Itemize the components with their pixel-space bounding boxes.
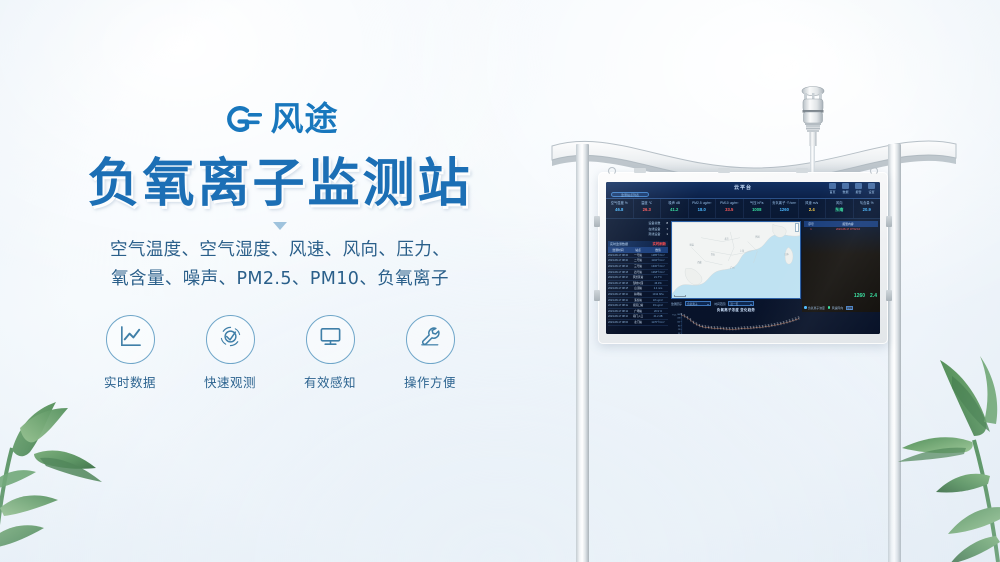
station-list-pill[interactable]: 监测站点列表 xyxy=(611,192,649,197)
table-cell: 2023-08-17 08:16 xyxy=(608,281,628,286)
table-cell: 1012 hPa xyxy=(648,292,668,297)
table-cell: 2023-08-17 08:15 xyxy=(608,286,628,291)
bezel-tab xyxy=(796,168,808,173)
table-cell: 2023-08-17 08:17 xyxy=(608,275,628,280)
table-cell: 2023-08-17 08:09 xyxy=(608,320,628,325)
dashboard-header: 云平台 监测站点列表 首页 数据 报警 设置 xyxy=(606,182,880,199)
range-label: 时间范围 xyxy=(714,302,725,306)
feature-label: 有效感知 xyxy=(294,372,366,391)
bezel-tab xyxy=(718,168,730,173)
table-cell: 2023-08-17 08:19 xyxy=(608,264,628,269)
feature-icon-circle xyxy=(406,315,455,364)
feature-item-effective-sensing[interactable]: 有效感知 xyxy=(294,315,366,391)
table-cell: 20.9 % xyxy=(648,309,668,314)
table-caption-badge: 实时刷新 xyxy=(652,241,666,246)
metric-card: PM10 ug/m³33.5 xyxy=(716,199,744,218)
dashboard-header-icons: 首页 数据 报警 设置 xyxy=(828,183,876,194)
metric-value: 20.9 xyxy=(854,206,881,214)
metric-value: 2.4 xyxy=(799,206,826,214)
alert-row[interactable]: 1 2023-08-17 07:52:10 xyxy=(804,227,878,233)
table-caption-label: 实时监测数据 xyxy=(610,242,628,246)
metric-value: 东南 xyxy=(826,206,853,214)
dashboard-body: 设备总数 8 在线设备 7 离线设备 1 xyxy=(606,219,880,312)
station-list-pill-label: 监测站点列表 xyxy=(612,193,648,198)
table-cell: 三号站 xyxy=(628,264,648,269)
range-select[interactable]: 近一天 xyxy=(728,301,754,306)
svg-text:1333: 1333 xyxy=(677,318,680,320)
feature-icon-circle xyxy=(306,315,355,364)
feature-label: 快速观测 xyxy=(194,372,266,391)
brand-name: 风途 xyxy=(271,99,339,139)
map-landmass: 北京西安 上海广州 新疆西藏 韩国日本 xyxy=(672,222,800,298)
wrench-icon xyxy=(418,324,443,354)
mount-lug-left-bottom xyxy=(594,290,600,301)
mount-lug-right-bottom xyxy=(886,290,892,301)
highlight-value: 1260 xyxy=(854,293,865,299)
feature-icon-circle xyxy=(106,315,155,364)
subtitle-line-2: 氧含量、噪声、PM2.5、PM10、负氧离子 xyxy=(0,265,560,293)
metric-value: 1260 xyxy=(771,206,798,214)
feature-item-easy-operation[interactable]: 操作方便 xyxy=(394,315,466,391)
table-cell: 四号站 xyxy=(628,270,648,275)
svg-text:533: 533 xyxy=(678,329,681,331)
table-cell: 1330个/cm³ xyxy=(648,264,668,269)
radar-dish-icon xyxy=(218,324,243,354)
table-cell: 21.7℃ xyxy=(648,275,668,280)
feature-icon-circle xyxy=(206,315,255,364)
table-cell: 2023-08-17 08:12 xyxy=(608,303,628,308)
table-cell: 溪谷站 xyxy=(628,298,648,303)
table-cell: 18 ug/m³ xyxy=(648,298,668,303)
metric-card: 空气湿度 %46.8 xyxy=(606,199,634,218)
station-post-right xyxy=(888,144,901,562)
gear-icon[interactable]: 设置 xyxy=(867,183,876,194)
metric-value: 46.8 xyxy=(606,206,633,214)
map-toolbar: 监测因子 负氧离子 时间范围 近一天 xyxy=(671,301,801,306)
monitoring-station: 云平台 监测站点列表 首页 数据 报警 设置 空气湿度 %46.8温度 ℃26.… xyxy=(540,110,980,520)
export-button[interactable]: 导出 xyxy=(846,306,853,311)
svg-text:267: 267 xyxy=(678,333,681,334)
svg-text:1067: 1067 xyxy=(677,321,680,323)
table-cell: 广场站 xyxy=(628,309,648,314)
table-cell: 2.4 m/s xyxy=(648,286,668,291)
table-cell: 2023-08-17 08:20 xyxy=(608,258,628,263)
feature-list: 实时数据 快速观测 xyxy=(0,315,560,391)
table-cell: 46.3% xyxy=(648,281,668,286)
table-cell: 山顶站 xyxy=(628,286,648,291)
alert-index: 1 xyxy=(804,227,818,233)
table-cell: 2023-08-17 08:11 xyxy=(608,309,628,314)
stat-label: 离线设备 xyxy=(648,232,660,238)
highlight-value: 2.4 xyxy=(870,293,877,299)
map-scale-bar xyxy=(674,295,686,297)
filter-label: 监测因子 xyxy=(671,302,682,306)
table-cell: 2023-08-17 08:10 xyxy=(608,314,628,319)
wind-g-logo-icon xyxy=(222,99,262,139)
stat-value: 1 xyxy=(666,232,668,238)
table-cell: 2023-08-17 08:21 xyxy=(608,253,628,258)
svg-text:1600: 1600 xyxy=(677,314,680,316)
trend-chart: 负氧离子浓度 变化趋势 0267533800106713331600个/cm³0… xyxy=(671,307,801,334)
metric-card: PM2.5 ug/m³18.0 xyxy=(689,199,717,218)
poster-stage: 风途 负氧离子监测站 空气温度、空气湿度、风速、风向、压力、 氧含量、噪声、PM… xyxy=(0,0,1000,562)
metric-card: 风速 m/s2.4 xyxy=(799,199,827,218)
ultrasonic-weather-sensor-icon xyxy=(795,84,831,148)
page-title: 负氧离子监测站 xyxy=(0,156,560,212)
metric-strip: 空气湿度 %46.8温度 ℃26.3噪声 dB41.2PM2.5 ug/m³18… xyxy=(606,199,880,219)
chart-legend: 负氧离子浓度 风速风向 导出 xyxy=(804,306,878,311)
table-cell: 一号站 xyxy=(628,253,648,258)
factor-select[interactable]: 负氧离子 xyxy=(685,301,711,306)
china-map[interactable]: 北京西安 上海广州 新疆西藏 韩国日本 xyxy=(671,221,801,299)
table-cell: 33 ug/m³ xyxy=(648,303,668,308)
hanger-ring-left xyxy=(608,167,616,175)
table-cell: 1285个/cm³ xyxy=(648,253,668,258)
dashboard: 云平台 监测站点列表 首页 数据 报警 设置 空气湿度 %46.8温度 ℃26.… xyxy=(606,182,880,334)
mount-lug-left-top xyxy=(594,216,600,227)
metric-value: 26.3 xyxy=(634,206,661,214)
metric-card: 氧含量 %20.9 xyxy=(854,199,881,218)
legend-item: 负氧离子浓度 xyxy=(804,306,825,310)
home-icon[interactable]: 首页 xyxy=(828,183,837,194)
monitor-icon xyxy=(318,324,343,354)
feature-item-fast-observation[interactable]: 快速观测 xyxy=(194,315,266,391)
display-cabinet: 云平台 监测站点列表 首页 数据 报警 设置 空气湿度 %46.8温度 ℃26.… xyxy=(598,172,888,344)
stat-row: 离线设备 1 xyxy=(608,232,668,238)
table-cell: 二号站 xyxy=(628,258,648,263)
table-cell: 1268个/cm³ xyxy=(648,270,668,275)
metric-card: 温度 ℃26.3 xyxy=(634,199,662,218)
title-divider-arrow xyxy=(273,222,287,230)
table-cell: 1176个/cm³ xyxy=(648,320,668,325)
line-chart-icon xyxy=(118,324,143,354)
table-row[interactable]: 2023-08-17 08:09北门站1176个/cm³ xyxy=(608,320,668,326)
table-cell: 索道口站 xyxy=(628,303,648,308)
feature-label: 实时数据 xyxy=(94,372,166,391)
alert-content: 2023-08-17 07:52:10 xyxy=(818,227,878,233)
metric-card: 风向东南 xyxy=(826,199,854,218)
subtitle-line-1: 空气温度、空气湿度、风速、风向、压力、 xyxy=(0,236,560,264)
table-cell: 1104个/cm³ xyxy=(648,258,668,263)
hero-text-block: 风途 负氧离子监测站 空气温度、空气湿度、风速、风向、压力、 氧含量、噪声、PM… xyxy=(0,96,560,391)
highlight-values: 1260 2.4 xyxy=(854,293,877,299)
table-body: 2023-08-17 08:21一号站1285个/cm³2023-08-17 0… xyxy=(608,253,668,326)
dashboard-left-column: 设备总数 8 在线设备 7 离线设备 1 xyxy=(606,219,670,312)
metric-value: 33.5 xyxy=(716,206,743,214)
metric-value: 18.0 xyxy=(689,206,716,214)
feature-item-realtime-data[interactable]: 实时数据 xyxy=(94,315,166,391)
metric-card: 噪声 dB41.2 xyxy=(661,199,689,218)
metric-value: 41.2 xyxy=(661,206,688,214)
metric-card: 气压 hPa1008 xyxy=(744,199,772,218)
map-zoom-icon[interactable] xyxy=(795,223,799,232)
table-cell: 湿地公园 xyxy=(628,281,648,286)
display-screen[interactable]: 云平台 监测站点列表 首页 数据 报警 设置 空气湿度 %46.8温度 ℃26.… xyxy=(606,182,880,334)
table-cell: 2023-08-17 08:18 xyxy=(608,270,628,275)
table-cell: 南门入口 xyxy=(628,314,648,319)
brand-logo: 风途 xyxy=(0,96,560,142)
table-cell: 2023-08-17 08:14 xyxy=(608,292,628,297)
mount-lug-right-top xyxy=(886,216,892,227)
metric-card: 负氧离子 个/cm³1260 xyxy=(771,199,799,218)
dashboard-right-column: 序号 报警内容 1 2023-08-17 07:52:10 1260 2.4 xyxy=(802,219,880,312)
station-post-left xyxy=(576,144,589,562)
table-cell: 林场站 xyxy=(628,292,648,297)
table-cell: 北门站 xyxy=(628,320,648,325)
svg-text:800: 800 xyxy=(678,325,681,327)
chart-plot: 0267533800106713331600个/cm³00:0000:3001:… xyxy=(671,312,801,334)
metric-value: 1008 xyxy=(744,206,771,214)
table-cell: 41.2 dB xyxy=(648,314,668,319)
table-cell: 风景区站 xyxy=(628,275,648,280)
bezel-tab xyxy=(634,168,646,173)
dashboard-center-column: 北京西安 上海广州 新疆西藏 韩国日本 监测因 xyxy=(670,219,802,312)
hanger-ring-right xyxy=(870,167,878,175)
table-cell: 2023-08-17 08:13 xyxy=(608,298,628,303)
legend-item: 风速风向 xyxy=(828,306,843,310)
data-icon[interactable]: 数据 xyxy=(841,183,850,194)
alarm-icon[interactable]: 报警 xyxy=(854,183,863,194)
feature-label: 操作方便 xyxy=(394,372,466,391)
